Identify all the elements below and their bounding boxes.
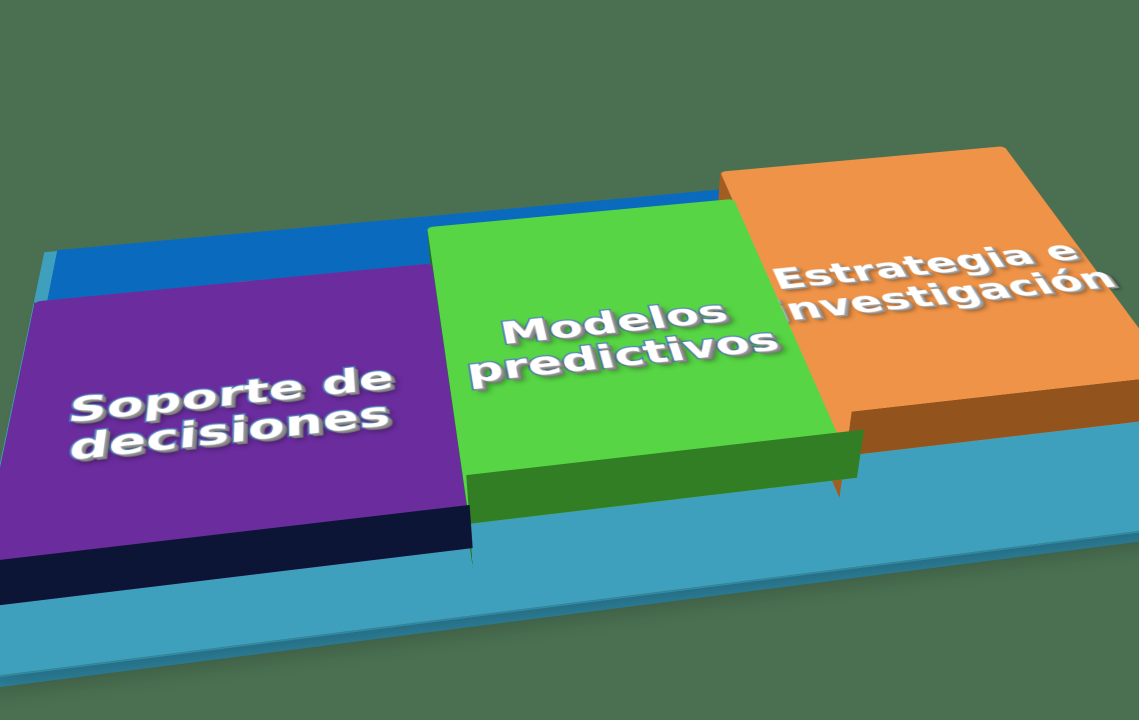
block-label-soporte: Soporte de decisiones (58, 361, 398, 470)
tilted-board: CRM analítico Soporte de decisiones Mode… (0, 172, 1139, 657)
block-label-estrategia: Estrategia e investigación (751, 235, 1123, 328)
block-label-modelos: Modelos predictivos (458, 293, 784, 390)
figure-canvas: CRM analítico Soporte de decisiones Mode… (0, 0, 1139, 720)
